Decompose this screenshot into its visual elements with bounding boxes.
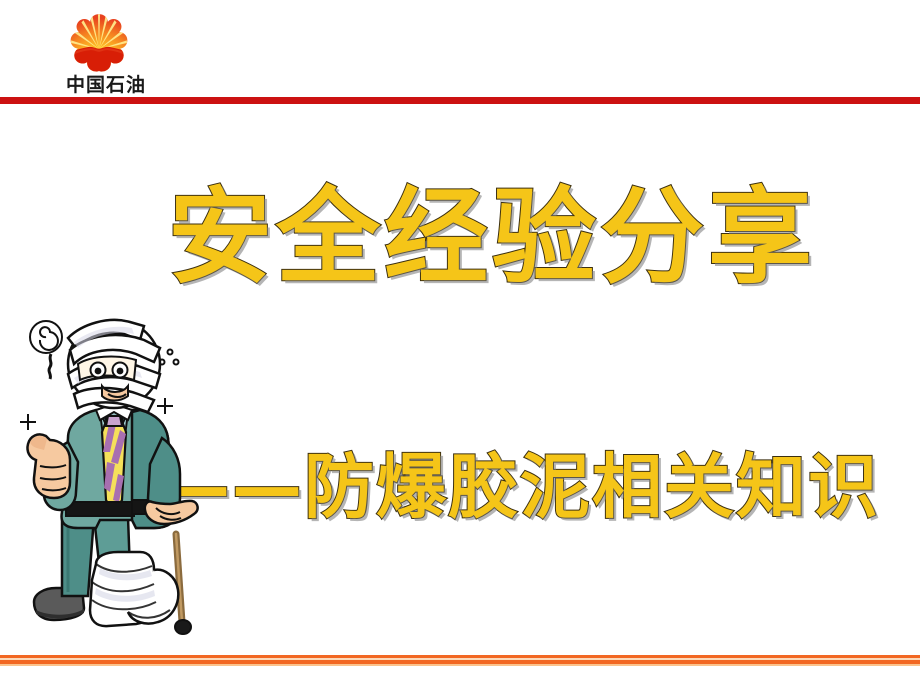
header-red-rule [0,97,920,104]
necktie [102,416,126,514]
slide-header: 中国石油 [0,0,920,104]
page-subtitle: ——防爆胶泥相关知识 [160,432,920,542]
injured-businessman-illustration [4,302,224,650]
thumbs-up-hand [27,434,78,510]
slide-canvas: 中国石油 安全经验分享 ——防爆胶泥相关知识 [0,0,920,690]
dizzy-swirl-icon [30,321,62,379]
brand-wordmark: 中国石油 [50,74,162,96]
footer-decorative-band [0,655,920,667]
leg-cast-bandage [90,552,178,626]
brand-logo-block: 中国石油 [50,10,162,98]
petrochina-sunburst-logo-icon [68,12,130,74]
bandaged-head [68,320,160,412]
band-stripe-4 [0,664,920,666]
page-title: 安全经验分享 [168,172,848,302]
